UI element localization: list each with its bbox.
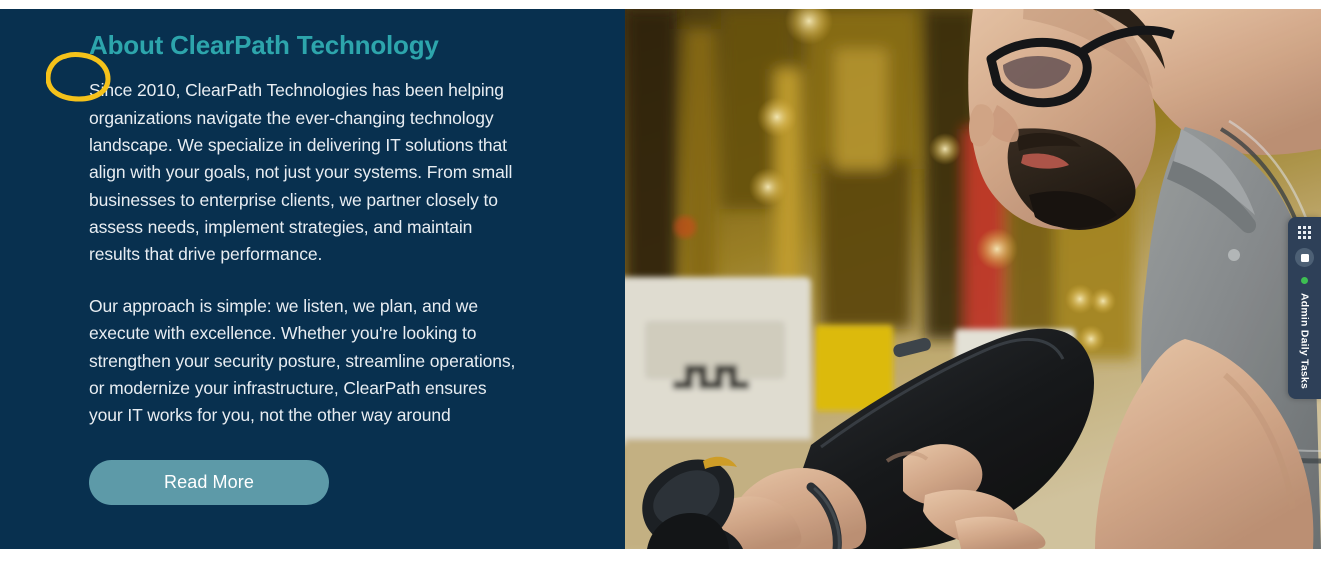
about-paragraph-2: Our approach is simple: we listen, we pl… (89, 293, 521, 430)
grid-dot (1298, 236, 1301, 239)
grid-dot (1303, 226, 1306, 229)
grid-dot (1298, 231, 1301, 234)
about-photo (625, 9, 1321, 549)
page-title: About ClearPath Technology (89, 30, 535, 61)
status-badge (1301, 277, 1308, 284)
grid-dot (1308, 226, 1311, 229)
admin-daily-tasks-widget[interactable]: Admin Daily Tasks (1288, 217, 1321, 399)
grid-dot (1298, 226, 1301, 229)
stop-recording-button[interactable] (1295, 248, 1314, 267)
about-photo-image (625, 9, 1321, 549)
grid-dot (1308, 231, 1311, 234)
stop-square-icon (1301, 254, 1309, 262)
grid-dot (1303, 231, 1306, 234)
about-section: About ClearPath Technology Since 2010, C… (0, 9, 1321, 549)
admin-daily-tasks-label[interactable]: Admin Daily Tasks (1299, 293, 1311, 389)
page-top-strip (0, 0, 1321, 9)
grid-dot (1308, 236, 1311, 239)
page-bottom-area (0, 549, 1321, 579)
grid-dot (1303, 236, 1306, 239)
page-root: About ClearPath Technology Since 2010, C… (0, 0, 1321, 579)
grid-dots-icon[interactable] (1298, 226, 1311, 239)
read-more-button[interactable]: Read More (89, 460, 329, 505)
about-paragraph-1: Since 2010, ClearPath Technologies has b… (89, 77, 521, 269)
about-text-panel: About ClearPath Technology Since 2010, C… (0, 9, 625, 549)
